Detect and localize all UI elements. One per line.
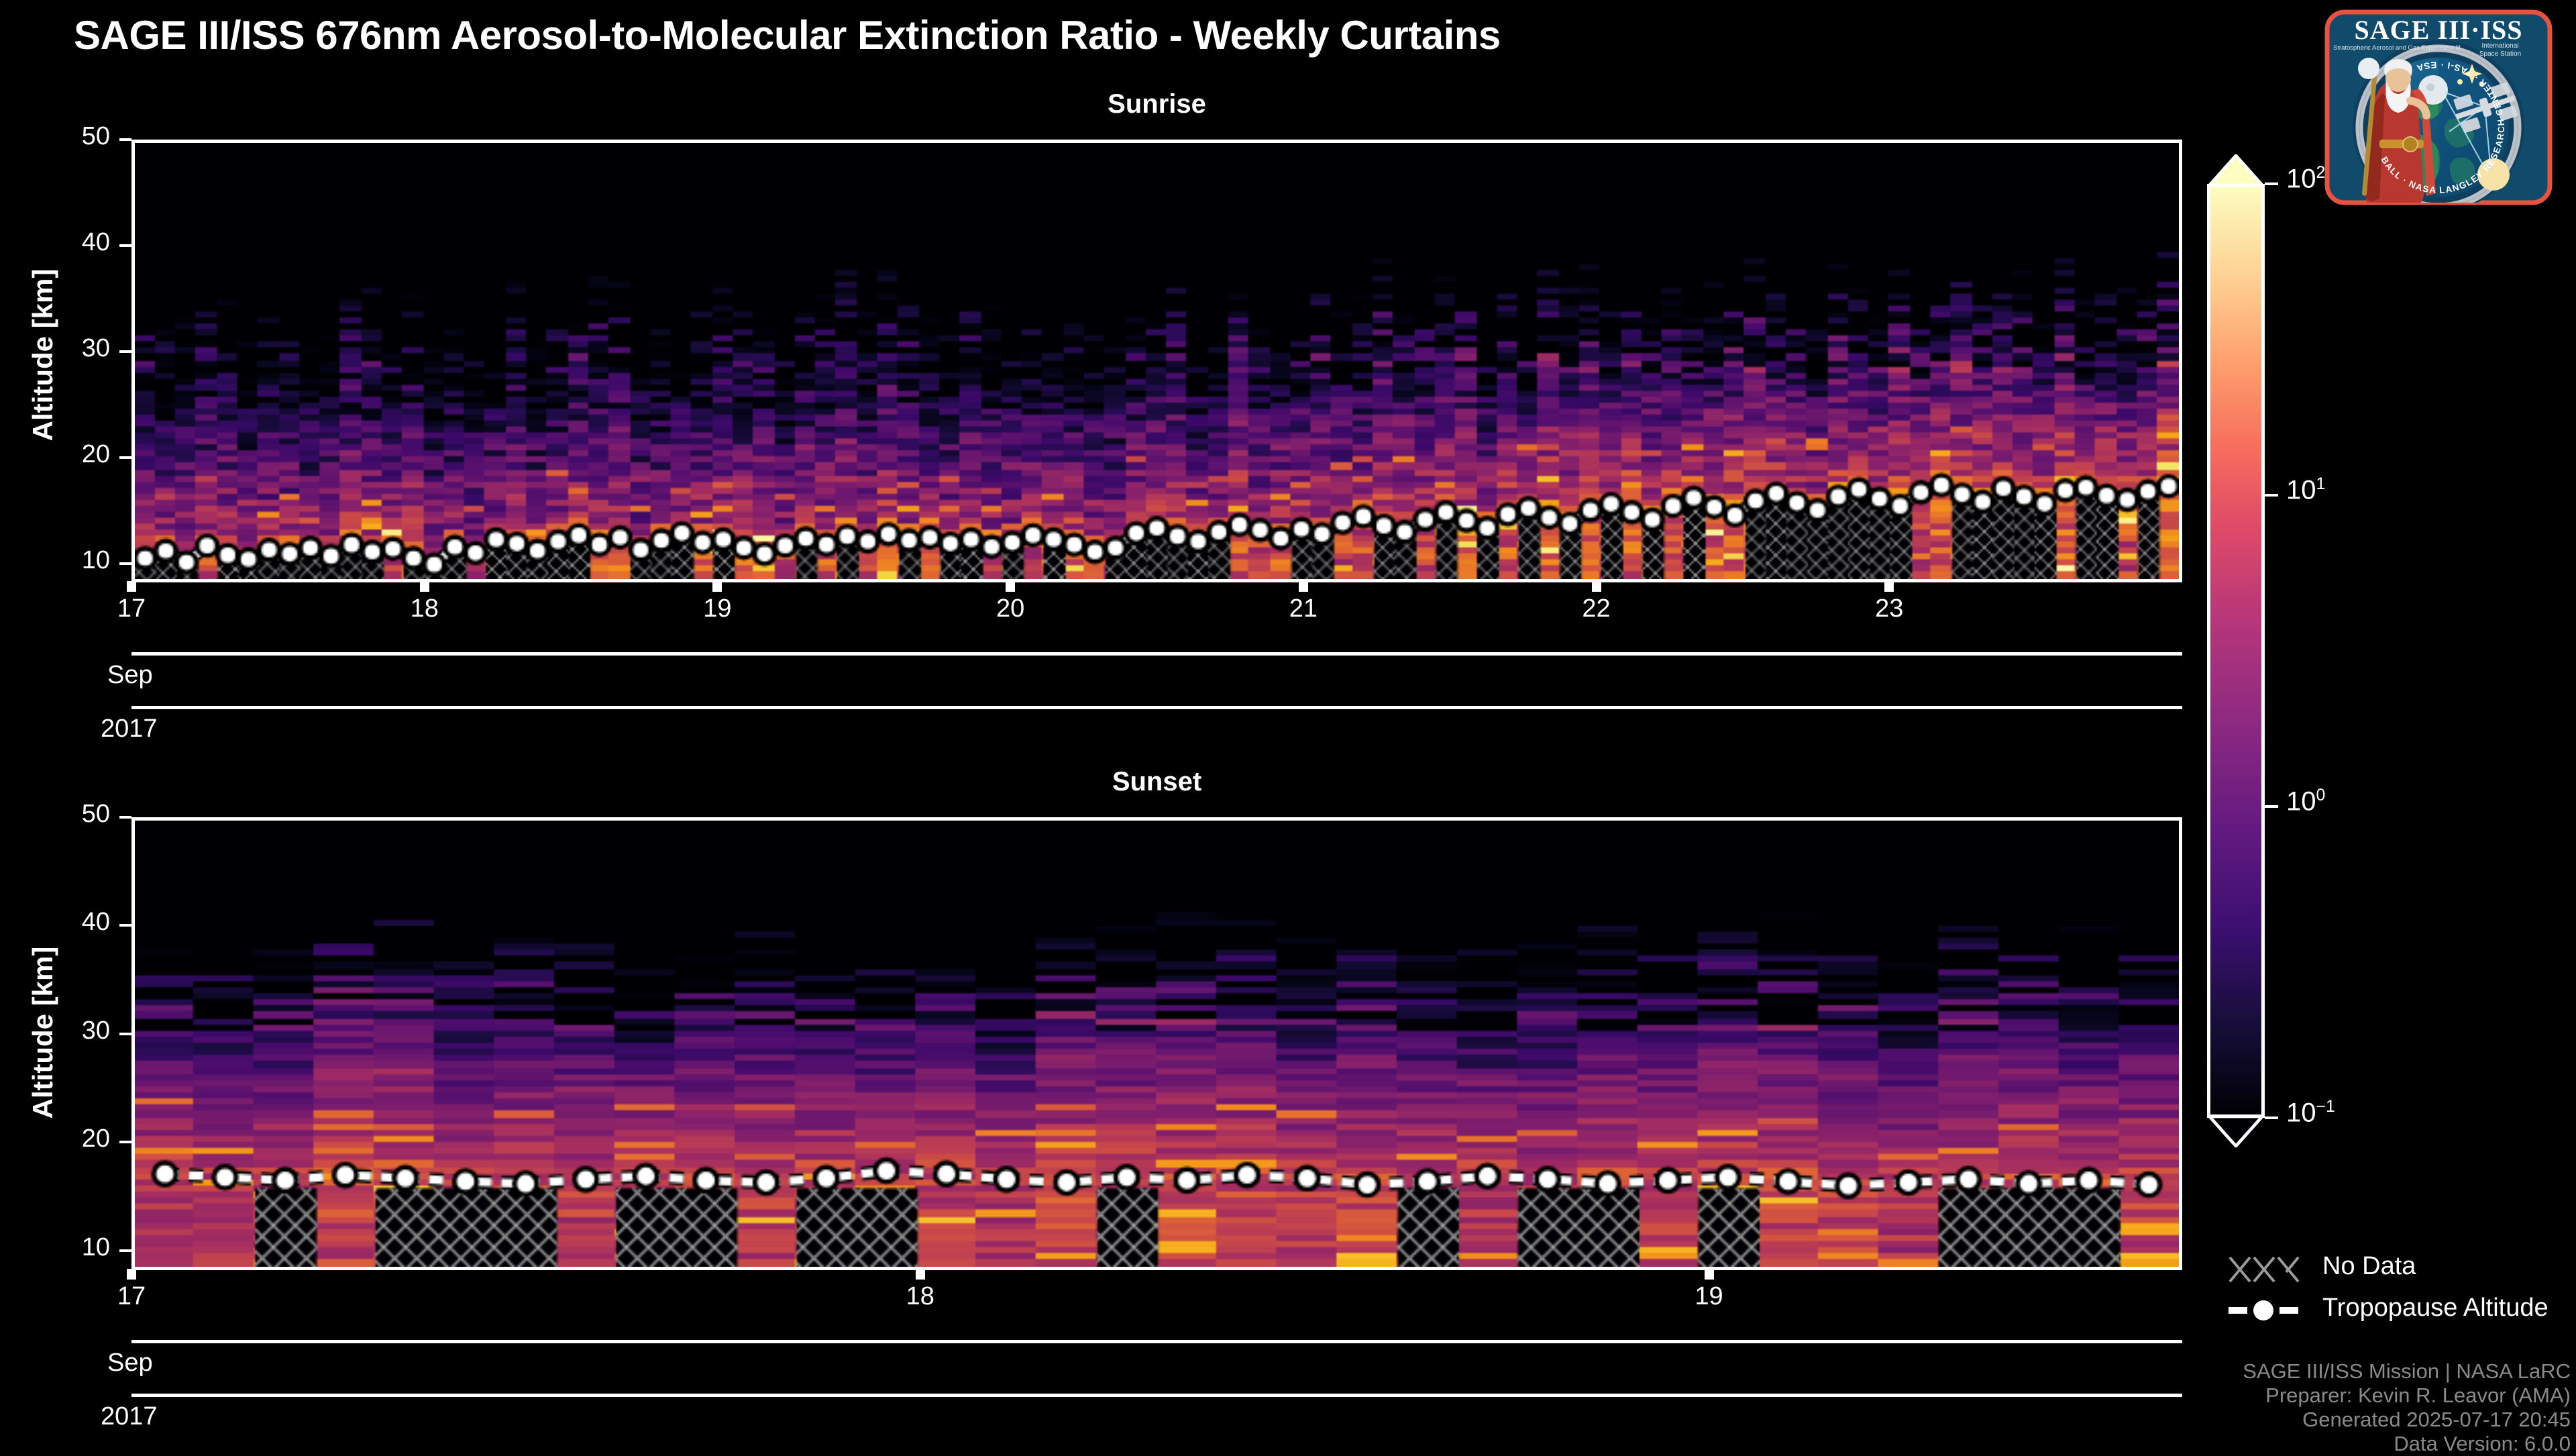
x-tick-mark xyxy=(127,1269,136,1280)
footer-line-mission: SAGE III/ISS Mission | NASA LaRC xyxy=(2243,1359,2571,1384)
hatch-swatch-icon xyxy=(2227,1248,2308,1290)
panel-title-sunset: Sunset xyxy=(131,767,2182,797)
year-label-sunrise: 2017 xyxy=(101,715,158,743)
y-tick-label-50: 50 xyxy=(0,122,110,151)
svg-text:International: International xyxy=(2481,42,2518,50)
y-tick-mark xyxy=(119,1033,131,1035)
heatmap-canvas-sunrise xyxy=(135,143,2179,579)
year-level-rule-sunset xyxy=(131,1394,2182,1397)
x-tick-mark xyxy=(127,581,136,592)
y-tick-mark xyxy=(119,456,131,459)
colorbar-tick-mark xyxy=(2265,1116,2278,1119)
x-tick-label-22: 22 xyxy=(1556,594,1637,623)
x-tick-mark xyxy=(1006,581,1015,592)
colorbar-tick-mark xyxy=(2265,494,2278,497)
footer-line-generated: Generated 2025-07-17 20:45 xyxy=(2243,1408,2571,1432)
colorbar-tick-label-0.1: 10−1 xyxy=(2286,1098,2335,1128)
y-tick-mark xyxy=(119,1141,131,1143)
y-tick-mark xyxy=(119,816,131,819)
x-tick-label-17: 17 xyxy=(91,1282,172,1311)
panel-title-sunrise: Sunrise xyxy=(131,89,2182,119)
footer-line-version: Data Version: 6.0.0 xyxy=(2243,1432,2571,1456)
x-tick-label-19: 19 xyxy=(1669,1282,1750,1311)
y-tick-label-20: 20 xyxy=(0,440,110,469)
svg-text:SAGE III·ISS: SAGE III·ISS xyxy=(2354,15,2522,45)
footer-line-preparer: Preparer: Kevin R. Leavor (AMA) xyxy=(2243,1384,2571,1408)
colorbar-tick-label-10: 101 xyxy=(2286,475,2325,505)
x-tick-label-17: 17 xyxy=(91,594,172,623)
heatmap-sunset[interactable] xyxy=(131,817,2182,1270)
legend-label-tropopause: Tropopause Altitude xyxy=(2322,1294,2548,1322)
year-level-rule-sunrise xyxy=(131,706,2182,709)
dashed-marker-line-icon xyxy=(2227,1290,2308,1331)
x-tick-label-21: 21 xyxy=(1263,594,1344,623)
mission-patch-icon: BALL · NASA LANGLEY RESEARCH CENTER · TA… xyxy=(2318,7,2559,208)
colorbar[interactable]: 10210110010−1 xyxy=(2207,154,2265,1147)
y-tick-mark xyxy=(119,350,131,353)
colorbar-tick-label-100: 102 xyxy=(2286,164,2325,194)
month-level-rule-sunset xyxy=(131,1340,2182,1343)
y-tick-mark xyxy=(119,562,131,565)
sage-iii-iss-mission-patch-logo: BALL · NASA LANGLEY RESEARCH CENTER · TA… xyxy=(2318,7,2559,208)
colorbar-tick-label-1: 100 xyxy=(2286,786,2325,817)
colorbar-gradient xyxy=(2207,184,2265,1118)
y-tick-label-10: 10 xyxy=(0,1233,110,1262)
x-tick-mark xyxy=(916,1269,925,1280)
y-tick-mark xyxy=(119,138,131,141)
month-label-sunrise: Sep xyxy=(107,661,153,690)
legend-item-no-data: No Data xyxy=(2227,1248,2563,1290)
x-tick-label-20: 20 xyxy=(970,594,1051,623)
x-tick-mark xyxy=(420,581,429,592)
legend-item-tropopause: Tropopause Altitude xyxy=(2227,1290,2563,1331)
page-title: SAGE III/ISS 676nm Aerosol-to-Molecular … xyxy=(74,12,1501,58)
svg-text:Stratospheric Aerosol and Gas: Stratospheric Aerosol and Gas Experiment… xyxy=(2333,44,2461,52)
year-label-sunset: 2017 xyxy=(101,1402,158,1431)
x-tick-label-18: 18 xyxy=(384,594,465,623)
legend: No Data Tropopause Altitude xyxy=(2227,1248,2563,1331)
y-tick-label-10: 10 xyxy=(0,546,110,575)
heatmap-canvas-sunset xyxy=(135,821,2179,1267)
y-tick-mark xyxy=(119,244,131,247)
colorbar-tick-mark xyxy=(2265,183,2278,185)
colorbar-tick-mark xyxy=(2265,805,2278,808)
y-tick-label-30: 30 xyxy=(0,334,110,363)
footer-credits: SAGE III/ISS Mission | NASA LaRC Prepare… xyxy=(2243,1359,2571,1456)
x-tick-mark xyxy=(1592,581,1601,592)
svg-text:Space Station: Space Station xyxy=(2479,50,2521,58)
y-tick-label-40: 40 xyxy=(0,908,110,937)
y-tick-label-30: 30 xyxy=(0,1017,110,1045)
x-tick-label-23: 23 xyxy=(1849,594,1929,623)
x-tick-mark xyxy=(1884,581,1894,592)
month-label-sunset: Sep xyxy=(107,1349,153,1377)
x-tick-label-19: 19 xyxy=(677,594,757,623)
colorbar-extend-max-icon xyxy=(2207,154,2265,187)
y-tick-label-50: 50 xyxy=(0,800,110,829)
y-tick-mark xyxy=(119,924,131,927)
month-level-rule-sunrise xyxy=(131,652,2182,656)
heatmap-sunrise[interactable] xyxy=(131,140,2182,582)
x-tick-mark xyxy=(1299,581,1308,592)
colorbar-extend-min-icon xyxy=(2207,1115,2265,1147)
x-tick-label-18: 18 xyxy=(880,1282,961,1311)
y-tick-label-40: 40 xyxy=(0,228,110,257)
y-tick-label-20: 20 xyxy=(0,1125,110,1153)
legend-label-no-data: No Data xyxy=(2322,1252,2416,1281)
x-tick-mark xyxy=(1705,1269,1714,1280)
y-tick-mark xyxy=(119,1249,131,1252)
x-tick-mark xyxy=(712,581,722,592)
